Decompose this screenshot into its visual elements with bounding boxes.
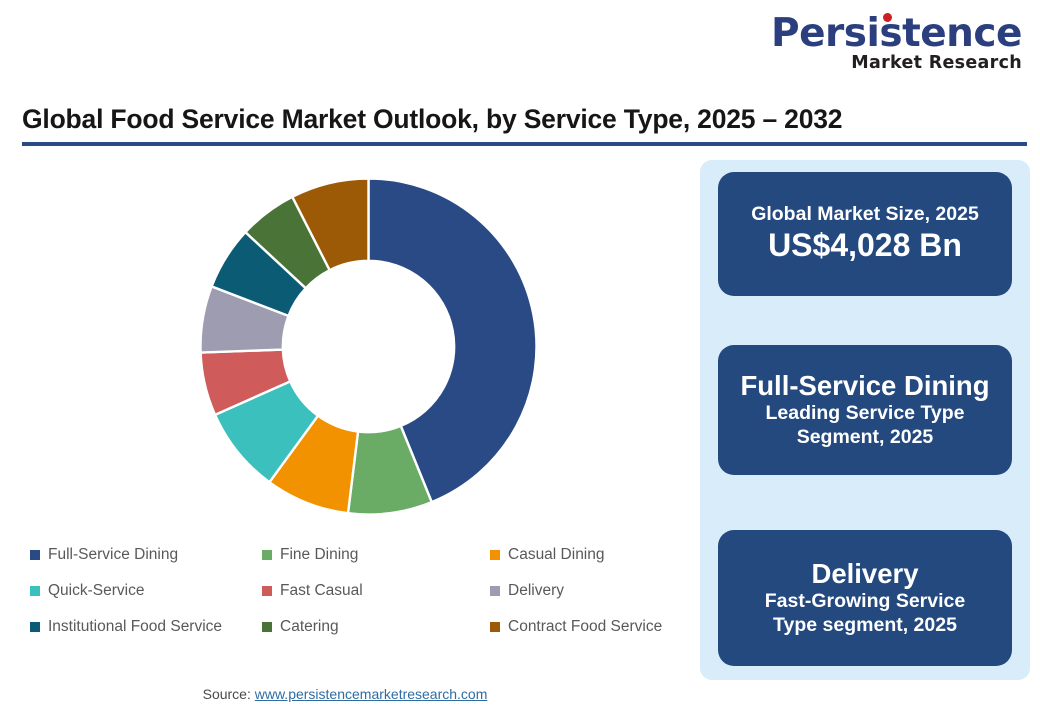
market-size-card: Global Market Size, 2025 US$4,028 Bn xyxy=(718,172,1012,296)
leading-segment-card: Full-Service Dining Leading Service Type… xyxy=(718,345,1012,475)
legend-item-label: Full-Service Dining xyxy=(48,546,178,564)
legend-item-casual-dining[interactable]: Casual Dining xyxy=(490,546,690,564)
legend-item-full-service-dining[interactable]: Full-Service Dining xyxy=(30,546,262,564)
page-title: Global Food Service Market Outlook, by S… xyxy=(22,104,1022,135)
brand-tagline: Market Research xyxy=(771,55,1022,73)
legend-swatch-icon xyxy=(262,550,272,560)
brand-accent-dot-icon xyxy=(883,13,892,22)
fast-growing-segment-name: Delivery xyxy=(811,558,918,590)
legend-item-contract-food-service[interactable]: Contract Food Service xyxy=(490,618,690,636)
legend-swatch-icon xyxy=(490,586,500,596)
legend-swatch-icon xyxy=(30,622,40,632)
legend-item-fast-casual[interactable]: Fast Casual xyxy=(262,582,490,600)
brand-name: Persistence xyxy=(771,14,1022,53)
fast-growing-segment-line1: Fast-Growing Service xyxy=(765,590,965,614)
chart-legend: Full-Service Dining Fine Dining Casual D… xyxy=(30,546,690,636)
legend-item-label: Catering xyxy=(280,618,339,636)
brand-name-text: Persistence xyxy=(771,11,1022,56)
title-block: Global Food Service Market Outlook, by S… xyxy=(22,104,1022,146)
legend-item-institutional-food-service[interactable]: Institutional Food Service xyxy=(30,618,262,636)
legend-item-label: Casual Dining xyxy=(508,546,605,564)
title-divider xyxy=(22,142,1027,146)
source-link[interactable]: www.persistencemarketresearch.com xyxy=(255,686,488,702)
legend-item-fine-dining[interactable]: Fine Dining xyxy=(262,546,490,564)
source-prefix: Source: xyxy=(203,686,255,702)
leading-segment-name: Full-Service Dining xyxy=(740,370,989,402)
legend-item-label: Institutional Food Service xyxy=(48,618,222,636)
leading-segment-line2: Segment, 2025 xyxy=(797,426,934,450)
legend-item-label: Delivery xyxy=(508,582,564,600)
market-size-value: US$4,028 Bn xyxy=(768,227,962,265)
legend-item-label: Fast Casual xyxy=(280,582,363,600)
fast-growing-segment-line2: Type segment, 2025 xyxy=(773,614,957,638)
legend-item-label: Contract Food Service xyxy=(508,618,662,636)
legend-swatch-icon xyxy=(262,586,272,596)
fast-growing-segment-card: Delivery Fast-Growing Service Type segme… xyxy=(718,530,1012,666)
legend-item-quick-service[interactable]: Quick-Service xyxy=(30,582,262,600)
legend-item-delivery[interactable]: Delivery xyxy=(490,582,690,600)
legend-swatch-icon xyxy=(262,622,272,632)
legend-swatch-icon xyxy=(490,550,500,560)
legend-item-label: Fine Dining xyxy=(280,546,358,564)
legend-item-catering[interactable]: Catering xyxy=(262,618,490,636)
source-note: Source: www.persistencemarketresearch.co… xyxy=(0,686,690,702)
market-size-heading: Global Market Size, 2025 xyxy=(751,203,979,227)
legend-item-label: Quick-Service xyxy=(48,582,144,600)
donut-chart-area xyxy=(0,160,690,540)
legend-swatch-icon xyxy=(490,622,500,632)
legend-swatch-icon xyxy=(30,586,40,596)
highlights-panel: Global Market Size, 2025 US$4,028 Bn Ful… xyxy=(700,160,1030,680)
donut-chart xyxy=(196,174,541,519)
legend-swatch-icon xyxy=(30,550,40,560)
leading-segment-line1: Leading Service Type xyxy=(765,402,964,426)
infographic-page: Persistence Market Research Global Food … xyxy=(0,0,1040,720)
brand-logo: Persistence Market Research xyxy=(771,14,1022,73)
